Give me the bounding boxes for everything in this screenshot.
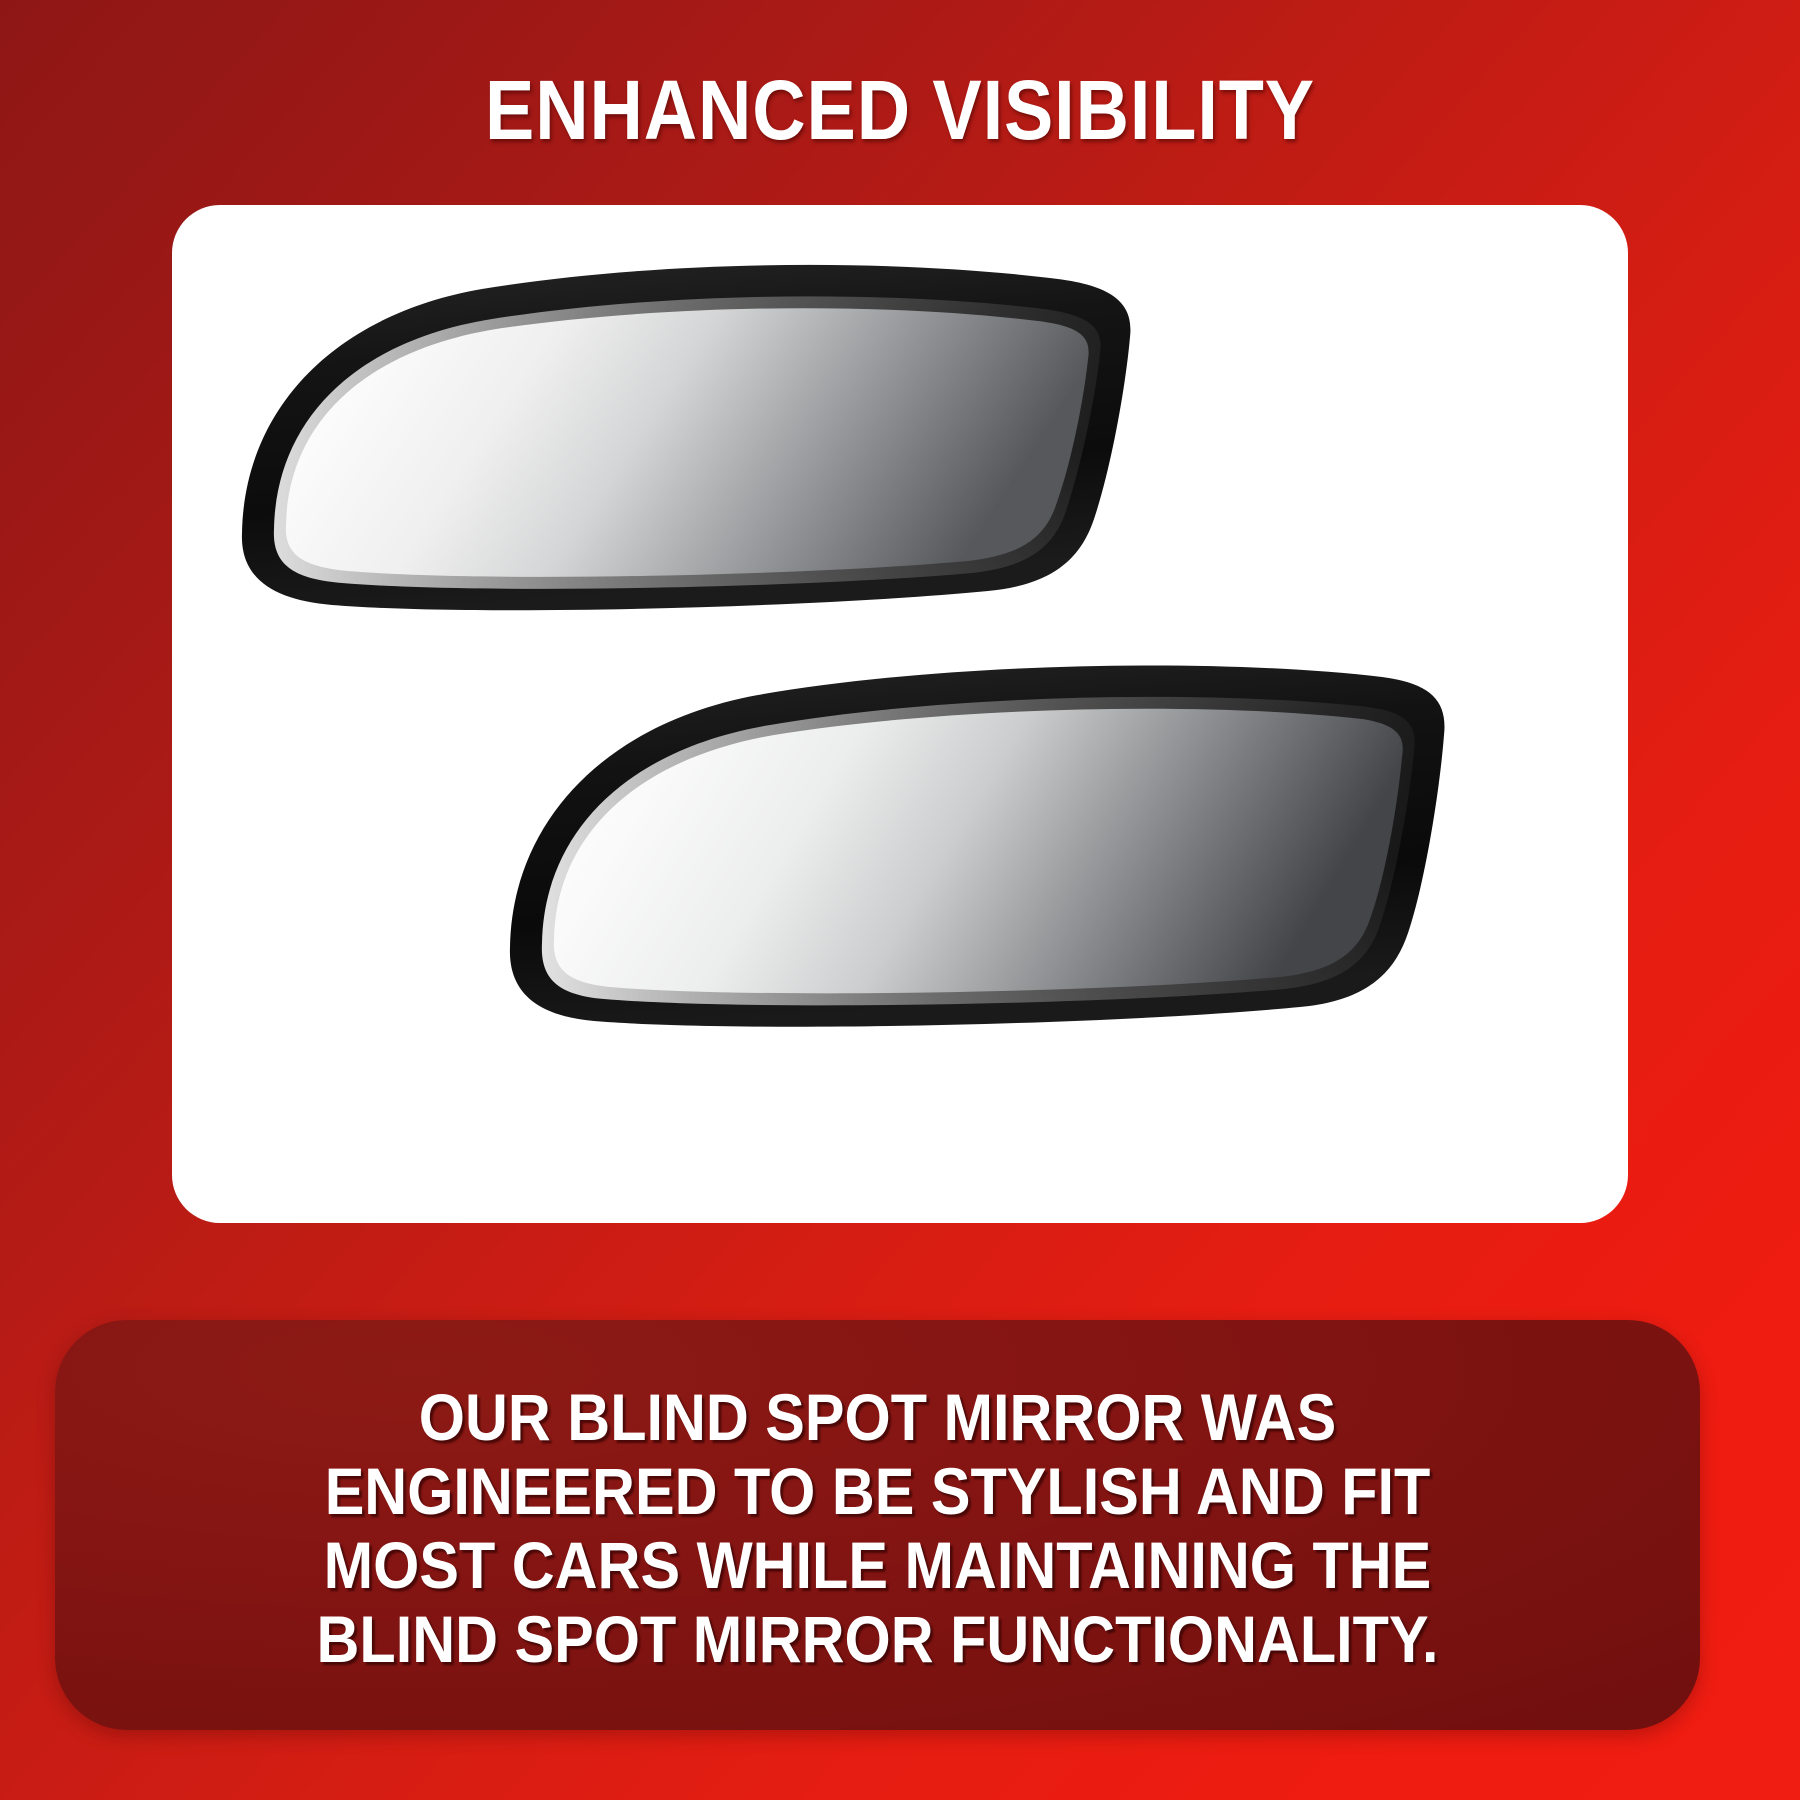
mirror-lower-graphic <box>452 635 1452 1065</box>
page-title: ENHANCED VISIBILITY <box>108 62 1692 158</box>
claim-line-4: BLIND SPOT MIRROR FUNCTIONALITY. <box>137 1602 1618 1676</box>
claim-text: OUR BLIND SPOT MIRROR WAS ENGINEERED TO … <box>137 1374 1618 1676</box>
claim-line-3: MOST CARS WHILE MAINTAINING THE <box>137 1528 1618 1602</box>
product-feature-banner: ENHANCED VISIBILITY <box>0 0 1800 1800</box>
mirror-upper-graphic <box>182 233 1142 653</box>
blind-spot-mirror-lower <box>452 635 1452 1065</box>
claim-line-2: ENGINEERED TO BE STYLISH AND FIT <box>137 1454 1618 1528</box>
product-photo-card <box>172 205 1628 1223</box>
claim-line-1: OUR BLIND SPOT MIRROR WAS <box>137 1380 1618 1454</box>
blind-spot-mirror-upper <box>182 233 1142 653</box>
claim-banner: OUR BLIND SPOT MIRROR WAS ENGINEERED TO … <box>55 1320 1700 1730</box>
